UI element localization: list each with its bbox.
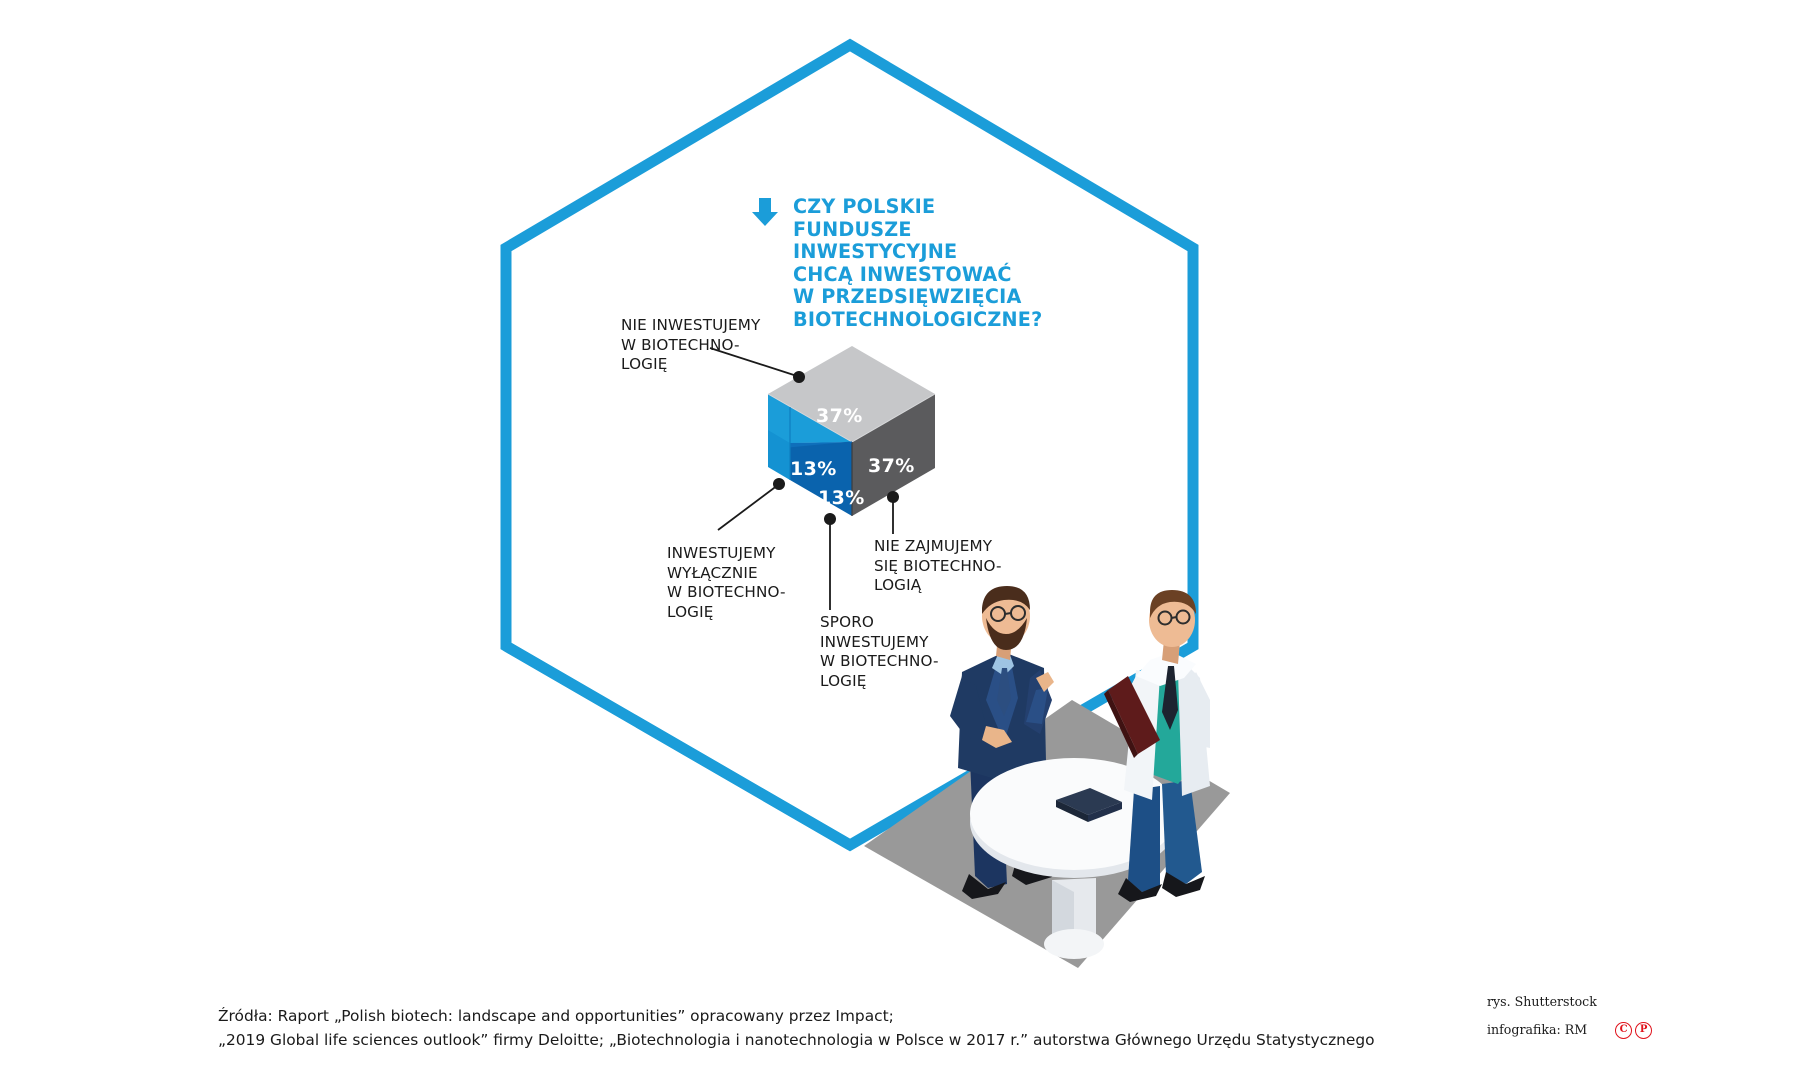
copyright-marks: C P: [1615, 1022, 1652, 1039]
pct-label-top: 37%: [816, 405, 863, 427]
credit-illustration: rys. Shutterstock: [1487, 988, 1597, 1016]
callout-nie-inwestujemy: NIE INWESTUJEMY W BIOTECHNO- LOGIĘ: [621, 316, 861, 375]
leader-line-nie-zajmujemy: [887, 491, 899, 534]
title-text: CZY POLSKIE FUNDUSZE INWESTYCYJNE CHCĄ I…: [793, 196, 1093, 332]
callout-sporo-inwestujemy: SPORO INWESTUJEMY W BIOTECHNO- LOGIĘ: [820, 613, 990, 691]
pct-label-right: 37%: [868, 455, 915, 477]
credit-infographic: infografika: RM: [1487, 1016, 1587, 1044]
infographic-canvas: 37% 37% 13% 13% CZY POLSKIE FUNDUSZE INW…: [0, 0, 1800, 1080]
callout-nie-zajmujemy: NIE ZAJMUJEMY SIĘ BIOTECHNO- LOGIĄ: [874, 537, 1064, 596]
callout-inwestujemy-wylacznie: INWESTUJEMY WYŁĄCZNIE W BIOTECHNO- LOGIĘ: [667, 544, 867, 622]
copyright-p-icon: P: [1635, 1022, 1652, 1039]
copyright-c-icon: C: [1615, 1022, 1632, 1039]
pct-label-left: 13%: [790, 458, 837, 480]
down-arrow-icon: [748, 196, 782, 230]
leader-line-inwestujemy-wylacznie: [718, 478, 785, 530]
credit-illustration-row: rys. Shutterstock: [1487, 988, 1652, 1016]
credit-infographic-row: infografika: RM C P: [1487, 1016, 1652, 1044]
source-note: Źródła: Raport „Polish biotech: landscap…: [218, 1004, 1375, 1052]
page-title: CZY POLSKIE FUNDUSZE INWESTYCYJNE CHCĄ I…: [793, 196, 1093, 332]
credits-block: rys. Shutterstock infografika: RM C P: [1487, 988, 1652, 1044]
pct-label-front: 13%: [818, 487, 865, 509]
